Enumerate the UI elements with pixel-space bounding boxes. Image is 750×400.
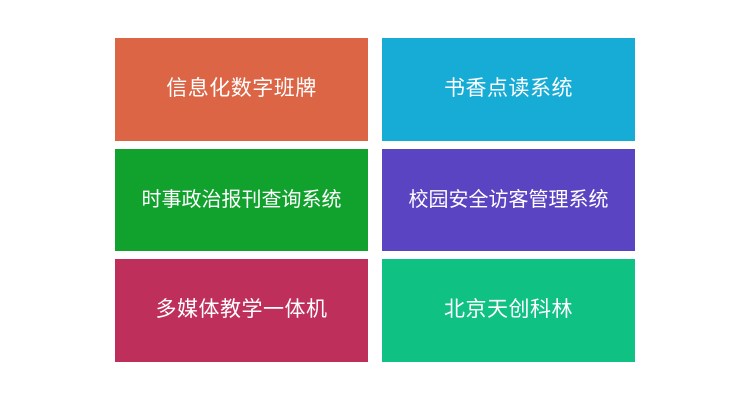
tile-label: 书香点读系统 [444,76,573,102]
tile-beijing-tianchuang-kelin[interactable]: 北京天创科林 [382,259,635,362]
tile-grid: 信息化数字班牌 书香点读系统 时事政治报刊查询系统 校园安全访客管理系统 多媒体… [115,38,635,363]
tile-label: 北京天创科林 [444,297,573,323]
tile-current-affairs-periodical-query-system[interactable]: 时事政治报刊查询系统 [115,149,368,251]
page-root: 信息化数字班牌 书香点读系统 时事政治报刊查询系统 校园安全访客管理系统 多媒体… [0,0,750,400]
tile-label: 校园安全访客管理系统 [409,188,609,213]
tile-label: 多媒体教学一体机 [156,297,328,323]
tile-multimedia-teaching-all-in-one-machine[interactable]: 多媒体教学一体机 [115,259,368,362]
tile-campus-security-visitor-management-system[interactable]: 校园安全访客管理系统 [382,149,635,251]
tile-digital-class-board[interactable]: 信息化数字班牌 [115,38,368,141]
tile-label: 时事政治报刊查询系统 [142,188,342,213]
tile-label: 信息化数字班牌 [166,76,317,102]
tile-reading-point-read-system[interactable]: 书香点读系统 [382,38,635,141]
